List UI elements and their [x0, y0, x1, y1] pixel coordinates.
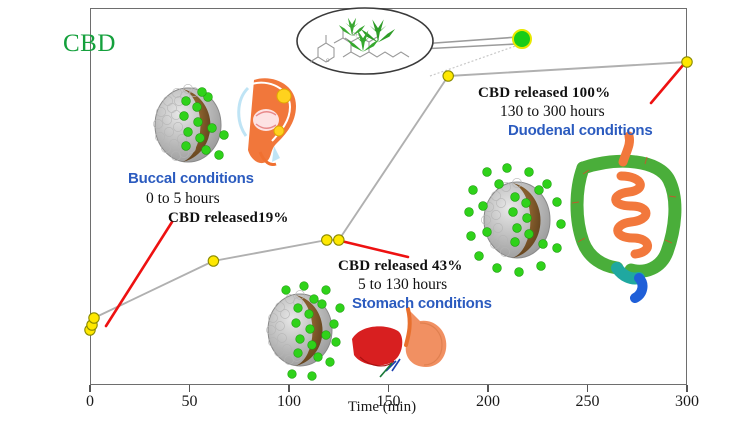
x-tick-50 [189, 385, 191, 392]
x-axis-title: Time (min) [0, 399, 756, 416]
annotation-buccal: Buccal conditions 0 to 5 hours CBD relea… [128, 170, 289, 227]
x-axis-title-text: Time (min) [348, 399, 416, 416]
buccal-condition-label: Buccal conditions [128, 170, 289, 187]
duodenal-condition-label: Duodenal conditions [508, 122, 653, 139]
stomach-hours-label: 5 to 130 hours [358, 276, 492, 294]
x-tick-0 [89, 385, 91, 392]
annotation-stomach: CBD released 43% 5 to 130 hours Stomach … [330, 258, 492, 312]
x-tick-200 [487, 385, 489, 392]
duodenal-released-label: CBD released 100% [478, 85, 653, 102]
duodenal-hours-label: 130 to 300 hours [500, 103, 653, 121]
stomach-released-label: CBD released 43% [338, 258, 492, 275]
cbd-callout-label: CBD [63, 30, 116, 58]
x-tick-150 [388, 385, 390, 392]
x-tick-300 [686, 385, 688, 392]
buccal-hours-label: 0 to 5 hours [146, 190, 289, 208]
stomach-condition-label: Stomach conditions [352, 295, 492, 312]
buccal-released-label: CBD released19% [168, 210, 289, 227]
graphical-abstract: 050100150200250300 Time (min) [0, 0, 756, 425]
annotation-duodenal: CBD released 100% 130 to 300 hours Duode… [478, 85, 653, 139]
x-tick-100 [288, 385, 290, 392]
x-tick-250 [587, 385, 589, 392]
